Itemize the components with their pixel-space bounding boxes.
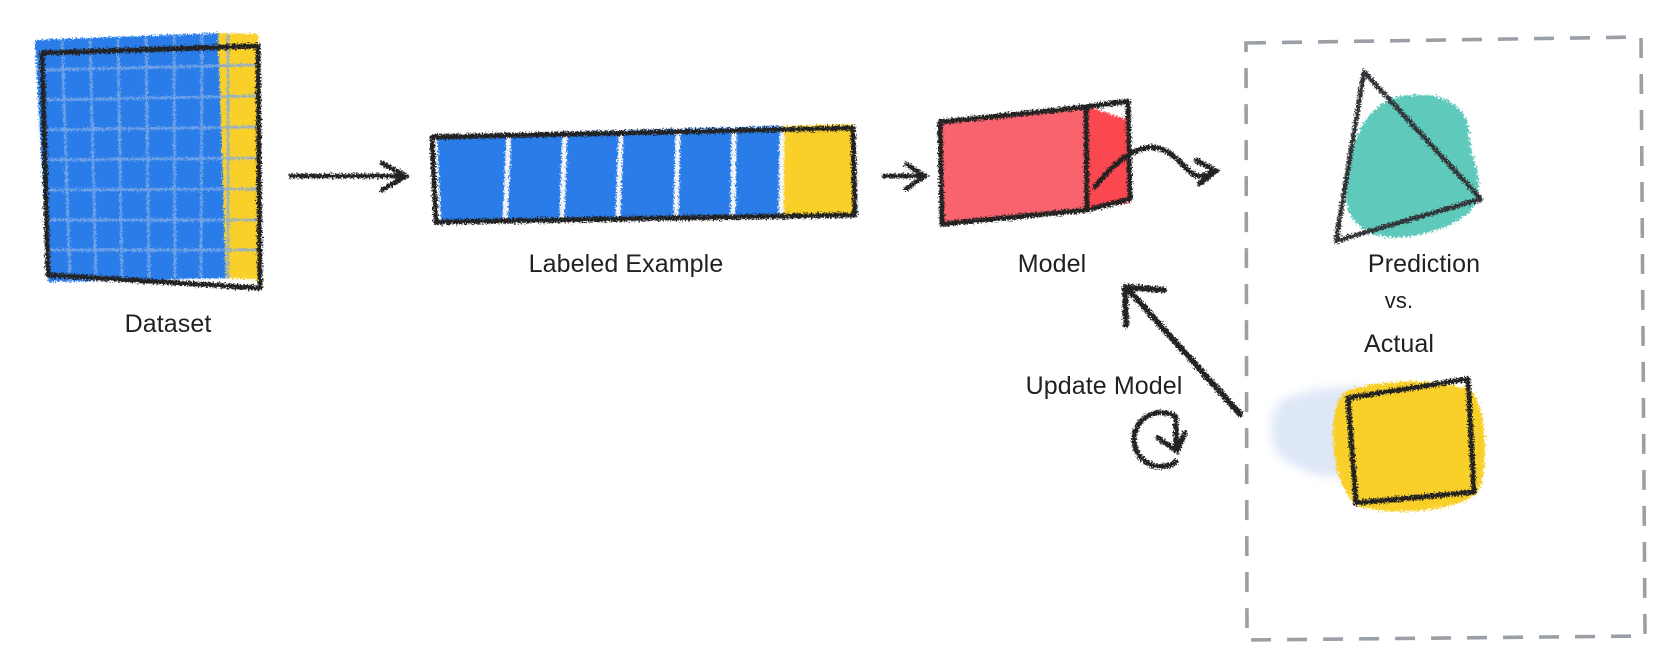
arrow-dataset-to-example [291,163,406,190]
labeled-example-label: Labeled Example [529,250,724,279]
dataset-label: Dataset [125,310,212,339]
labeled-example-label-cell-fill [780,124,855,216]
actual-node [1271,379,1485,511]
model-node [940,101,1130,225]
versus-label: vs. [1385,288,1413,314]
prediction-fill-blob [1346,95,1479,238]
actual-label: Actual [1364,330,1434,359]
model-label: Model [1018,250,1087,279]
update-model-label: Update Model [1026,372,1183,401]
labeled-example-node [432,124,855,222]
dataset-node [35,33,262,288]
arrow-example-to-model [884,164,925,189]
prediction-label: Prediction [1368,250,1480,279]
model-front-face-fill [941,106,1086,225]
diagram-canvas: Dataset Labeled Example Model Prediction… [0,0,1660,668]
prediction-node [1336,72,1481,241]
refresh-circular-arrow-icon [1134,413,1185,467]
